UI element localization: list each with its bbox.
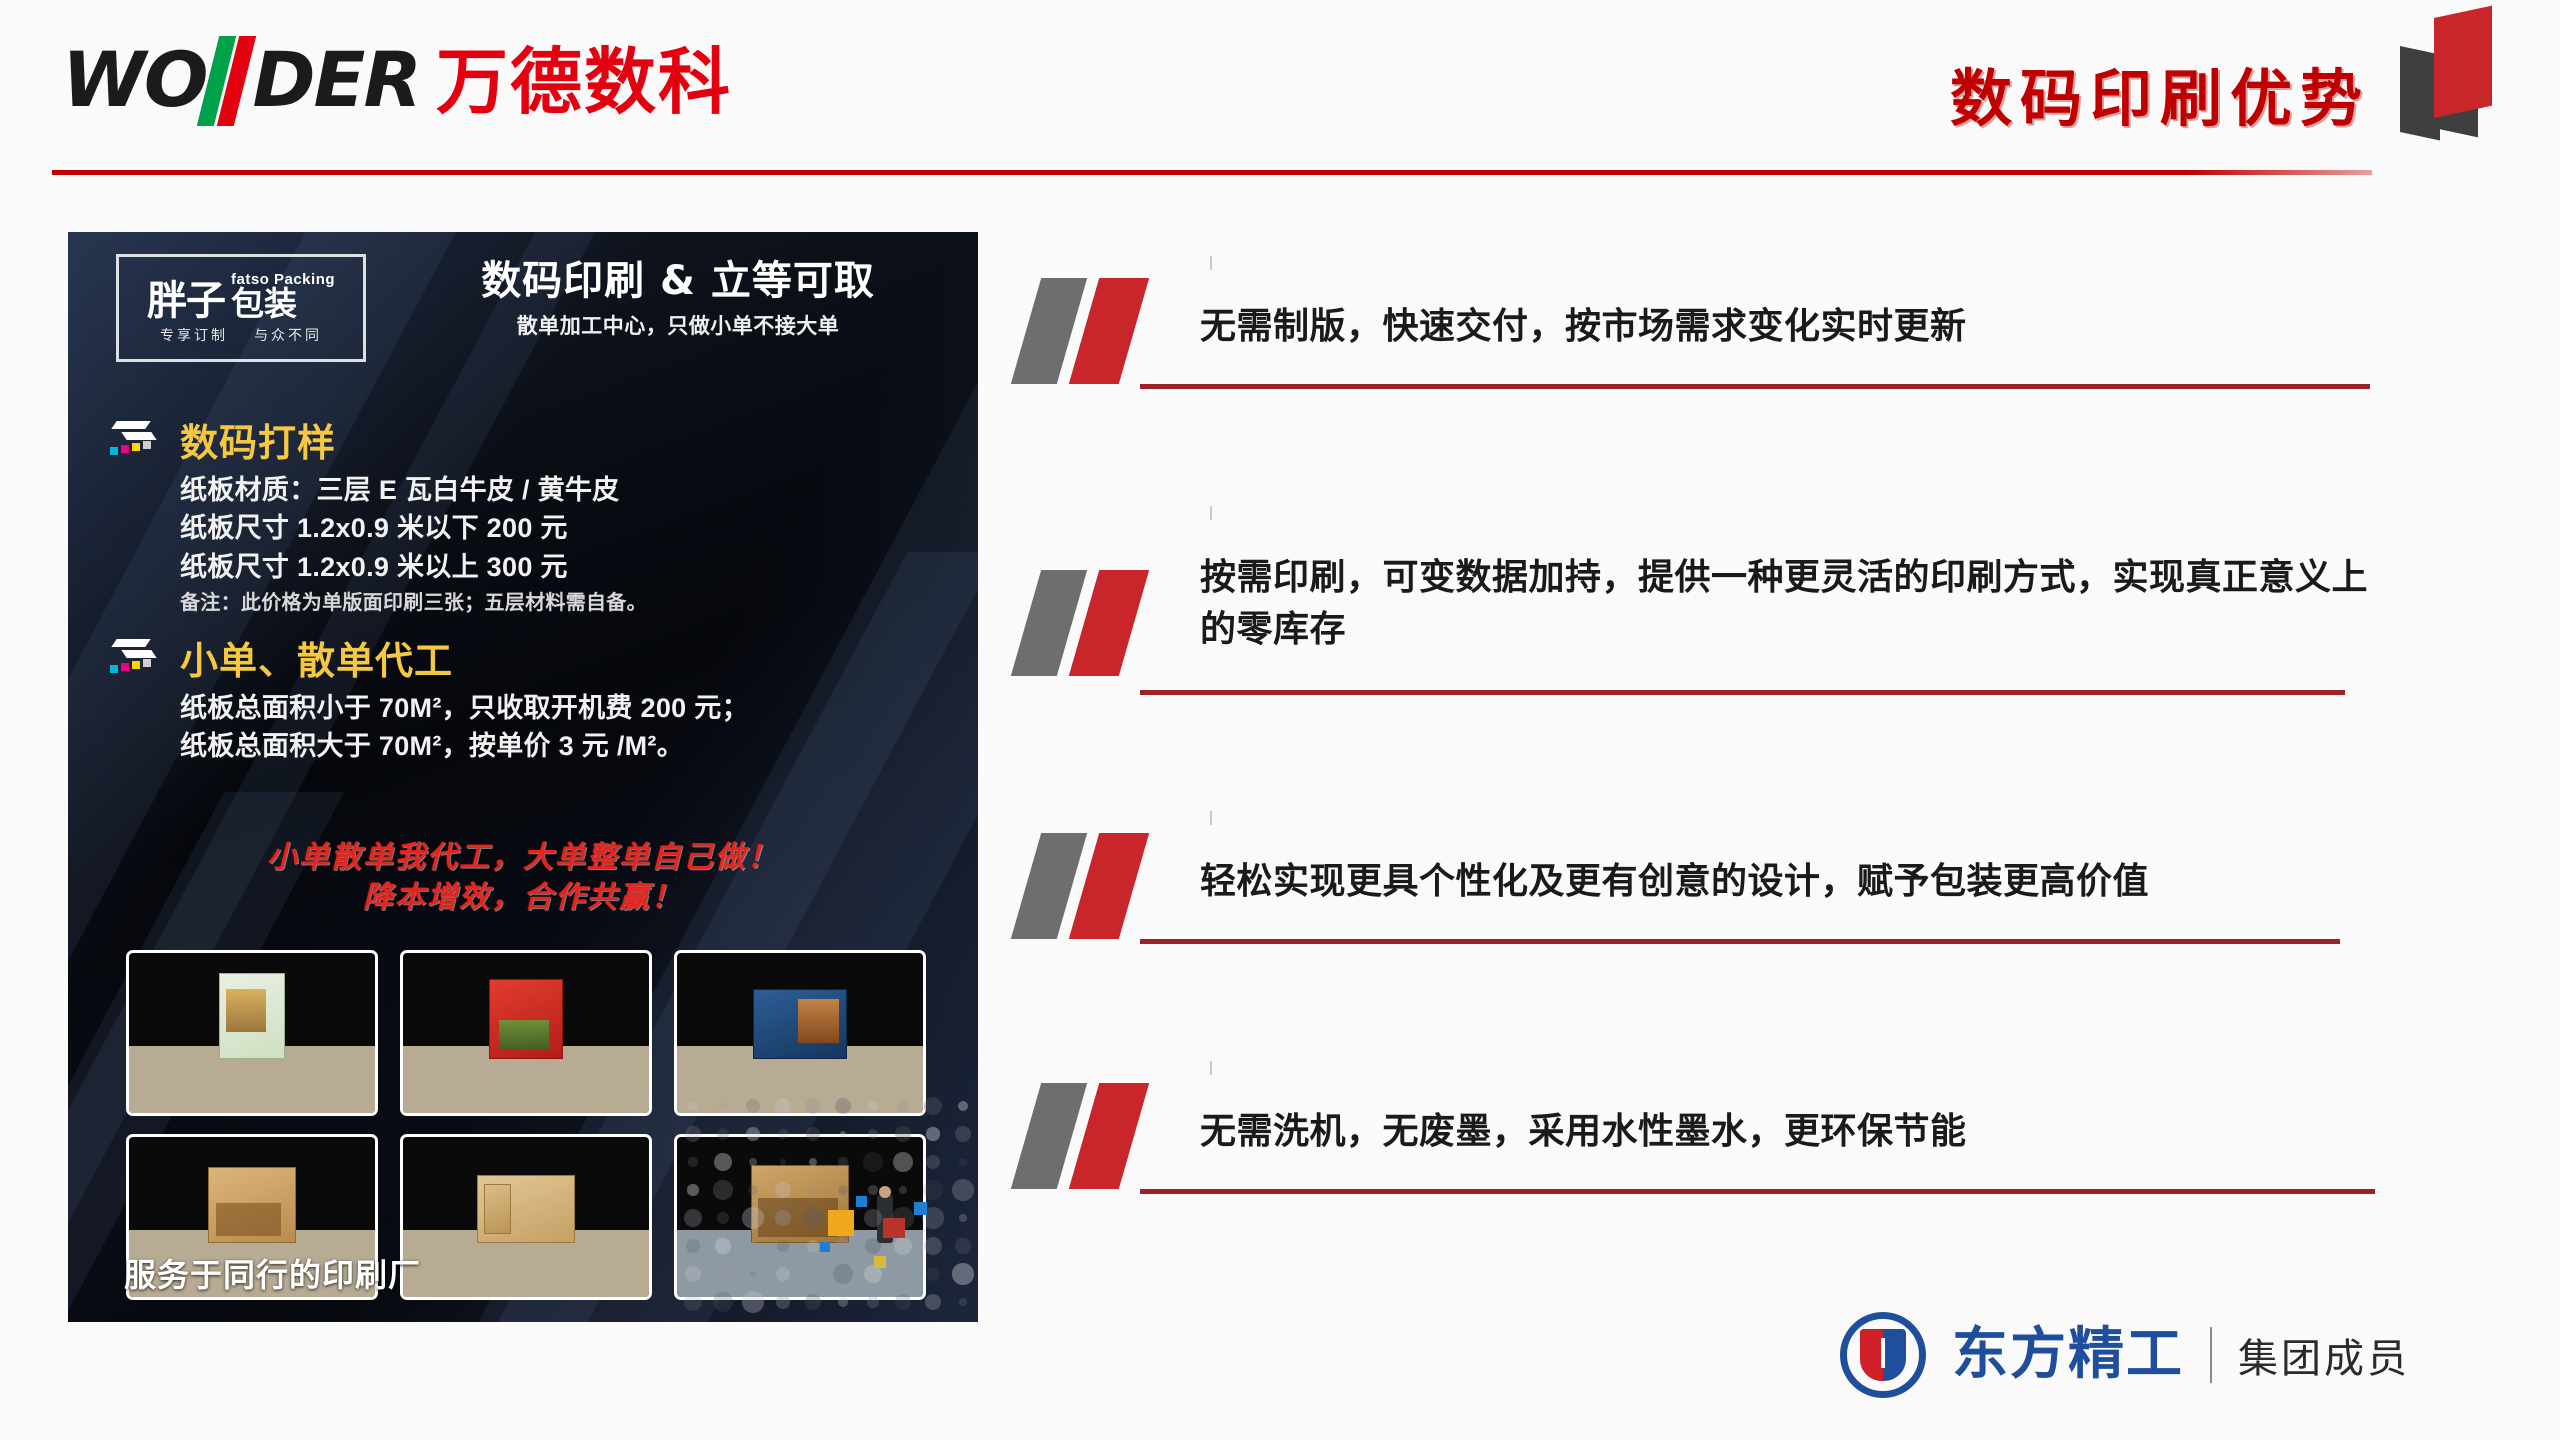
wonder-chinese-name: 万德数科 — [436, 46, 732, 118]
bullet-underline — [1140, 1189, 2375, 1194]
advantage-item: 按需印刷，可变数据加持，提供一种更灵活的印刷方式，实现真正意义上的零库存 — [1010, 518, 2380, 823]
dongfang-emblem-icon — [1840, 1312, 1926, 1398]
poster-section-line: 纸板总面积大于 70M²，按单价 3 元 /M²。 — [180, 727, 948, 765]
bullet-marker-icon — [1010, 823, 1190, 941]
advantage-text: 无需洗机，无废墨，采用水性墨水，更环保节能 — [1200, 1106, 1967, 1158]
wonder-word-left: WO — [62, 42, 206, 118]
footer-member-label: 集团成员 — [2238, 1326, 2410, 1384]
bullet-tick-mark — [1210, 256, 1212, 270]
poster-section-title: 数码打样 — [180, 412, 336, 467]
poster-section-line: 纸板材质：三层 E 瓦白牛皮 / 黄牛皮 — [180, 471, 948, 509]
footer-divider — [2210, 1327, 2212, 1383]
group-member-logo: 东方精工 集团成员 — [1840, 1312, 2410, 1398]
bullet-underline — [1140, 690, 2345, 695]
poster-logo-tag-left: 专享订制 — [160, 325, 228, 345]
poster-slogan-line1: 小单散单我代工，大单整单自己做！ — [128, 838, 918, 878]
bullet-marker-icon — [1010, 560, 1190, 678]
bullet-underline — [1140, 939, 2340, 944]
poster-logo-cn-sub: 包装 — [231, 287, 297, 320]
gallery-item — [126, 950, 378, 1116]
advantages-list: 无需制版，快速交付，按市场需求变化实时更新 按需印刷，可变数据加持，提供一种更灵… — [1010, 268, 2380, 1323]
wonder-n-slash-icon — [206, 42, 252, 118]
advantage-item: 无需洗机，无废墨，采用水性墨水，更环保节能 — [1010, 1073, 2380, 1323]
poster-footer-text: 服务于同行的印刷厂 — [124, 1250, 421, 1296]
footer-company-name: 东方精工 — [1952, 1327, 2184, 1383]
wonder-word-right: DER — [252, 42, 420, 118]
poster-slogan: 小单散单我代工，大单整单自己做！ 降本增效，合作共赢！ — [68, 838, 978, 918]
poster-headline: 数码印刷 & 立等可取 — [418, 258, 938, 304]
poster-brand-logo: 胖子 fatso Packing 包装 专享订制 与众不同 — [116, 254, 366, 362]
poster-section-line: 纸板总面积小于 70M²，只收取开机费 200 元； — [180, 689, 948, 727]
double-chevron-cmyk-icon — [108, 635, 166, 681]
poster-subheadline: 散单加工中心，只做小单不接大单 — [418, 310, 938, 340]
poster-headline-block: 数码印刷 & 立等可取 散单加工中心，只做小单不接大单 — [418, 258, 938, 340]
corner-decoration-icon — [2394, 8, 2512, 136]
poster-logo-tag-right: 与众不同 — [254, 325, 322, 345]
poster-slogan-line2: 降本增效，合作共赢！ — [128, 878, 918, 918]
wonder-wordmark: WODER — [62, 42, 420, 118]
header-divider — [52, 170, 2372, 175]
bullet-tick-mark — [1210, 506, 1212, 520]
halftone-dot-pattern-icon — [678, 1092, 978, 1322]
slide-root: WODER 万德数科 数码印刷优势 胖子 fatso Packing 包装 专享… — [0, 0, 2560, 1440]
bullet-underline — [1140, 384, 2370, 389]
gallery-item — [400, 950, 652, 1116]
poster-section-note: 备注：此价格为单版面印刷三张；五层材料需自备。 — [180, 589, 948, 617]
poster-logo-main: 胖子 — [147, 282, 225, 320]
advantage-item: 无需制版，快速交付，按市场需求变化实时更新 — [1010, 268, 2380, 518]
advantage-item: 轻松实现更具个性化及更有创意的设计，赋予包装更高价值 — [1010, 823, 2380, 1073]
bullet-marker-icon — [1010, 268, 1190, 386]
advantage-text: 无需制版，快速交付，按市场需求变化实时更新 — [1200, 301, 1967, 353]
advantage-text: 按需印刷，可变数据加持，提供一种更灵活的印刷方式，实现真正意义上的零库存 — [1200, 552, 2380, 656]
bullet-marker-icon — [1010, 1073, 1190, 1191]
bullet-tick-mark — [1210, 811, 1212, 825]
poster-section-small-order-oem: 小单、散单代工 纸板总面积小于 70M²，只收取开机费 200 元； 纸板总面积… — [108, 630, 948, 766]
poster-section-line: 纸板尺寸 1.2x0.9 米以上 300 元 — [180, 548, 948, 586]
poster-section-title: 小单、散单代工 — [180, 630, 453, 685]
poster-section-digital-proofing: 数码打样 纸板材质：三层 E 瓦白牛皮 / 黄牛皮 纸板尺寸 1.2x0.9 米… — [108, 412, 948, 617]
company-logo-wonder: WODER 万德数科 — [62, 42, 732, 118]
page-title: 数码印刷优势 — [1950, 48, 2370, 138]
bullet-tick-mark — [1210, 1061, 1212, 1075]
gallery-item — [400, 1134, 652, 1300]
poster-section-line: 纸板尺寸 1.2x0.9 米以下 200 元 — [180, 509, 948, 547]
advantage-text: 轻松实现更具个性化及更有创意的设计，赋予包装更高价值 — [1200, 856, 2149, 908]
double-chevron-cmyk-icon — [108, 417, 166, 463]
poster-image: 胖子 fatso Packing 包装 专享订制 与众不同 数码印刷 & 立等可… — [68, 232, 978, 1322]
